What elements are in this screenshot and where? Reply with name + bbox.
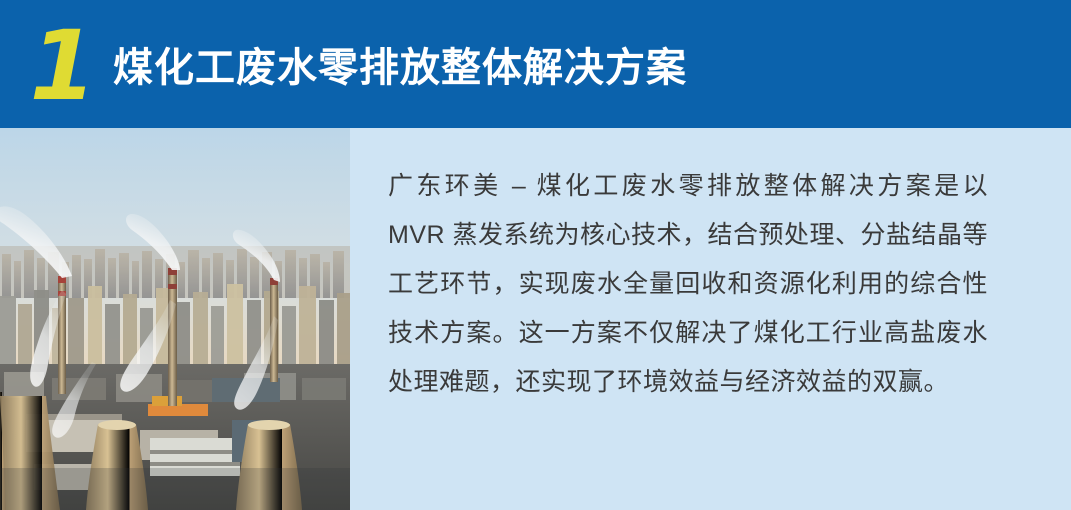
industrial-plant-photo (0, 128, 350, 510)
photo-illustration (0, 128, 350, 510)
page-root: 1 煤化工废水零排放整体解决方案 (0, 0, 1071, 510)
section-number-badge: 1 (26, 20, 98, 112)
description-paragraph: 广东环美 – 煤化工废水零排放整体解决方案是以 MVR 蒸发系统为核心技术，结合… (388, 162, 988, 407)
section-header: 1 煤化工废水零排放整体解决方案 (0, 0, 1071, 128)
page-title: 煤化工废水零排放整体解决方案 (113, 0, 687, 128)
